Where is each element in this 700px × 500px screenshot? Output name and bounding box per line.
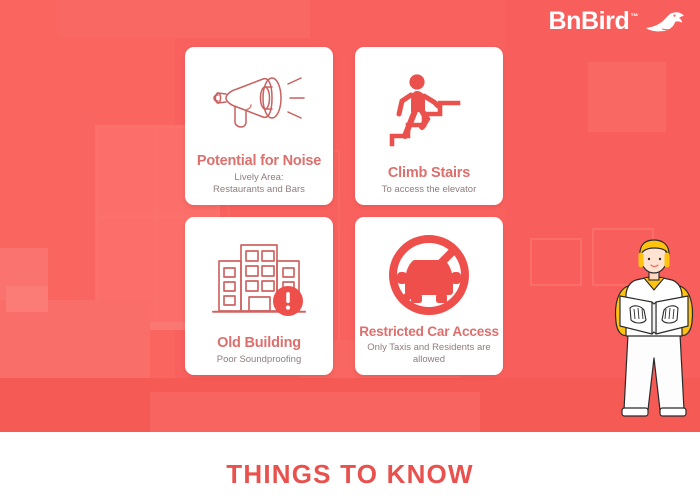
- card-title: Climb Stairs: [388, 166, 470, 182]
- hero-section: BnBird™: [0, 0, 700, 432]
- no-car-icon: [383, 230, 475, 320]
- card-title: Old Building: [217, 336, 301, 352]
- card-icon-wrapper: [192, 55, 326, 154]
- old-building-alert-icon: [207, 237, 311, 323]
- photo-window-mullion-vertical: [155, 125, 158, 325]
- card-subtitle: Lively Area: Restaurants and Bars: [213, 172, 305, 196]
- brand-name: BnBird™: [548, 9, 638, 34]
- megaphone-icon: [206, 67, 312, 141]
- card-climb-stairs[interactable]: Climb Stairs To access the elevator: [355, 47, 503, 205]
- card-title: Potential for Noise: [197, 154, 321, 170]
- photo-ceiling: [60, 0, 310, 38]
- footer-bar: THINGS TO KNOW: [0, 432, 700, 500]
- card-icon-wrapper: [192, 225, 326, 336]
- trademark-symbol: ™: [630, 12, 638, 21]
- card-subtitle: Only Taxis and Residents are allowed: [367, 342, 490, 366]
- poster-canvas: BnBird™: [0, 0, 700, 500]
- person-climbing-stairs-icon: [386, 70, 472, 150]
- card-subtitle-line-2: Restaurants and Bars: [213, 184, 305, 195]
- bird-icon: [644, 8, 686, 34]
- card-subtitle-line-1: Lively Area:: [234, 172, 283, 183]
- photo-rug: [150, 392, 480, 432]
- photo-picture-frame-a: [530, 238, 582, 286]
- reading-person-illustration: [608, 238, 700, 432]
- card-subtitle: Poor Soundproofing: [217, 354, 302, 366]
- card-subtitle-line-1: Only Taxis and Residents are: [367, 342, 490, 353]
- card-old-building[interactable]: Old Building Poor Soundproofing: [185, 217, 333, 375]
- card-subtitle: To access the elevator: [382, 184, 477, 196]
- photo-pillow: [6, 286, 48, 312]
- footer-title: THINGS TO KNOW: [226, 459, 473, 490]
- card-subtitle-line-2: allowed: [413, 354, 445, 365]
- photo-picture-frame-c: [588, 62, 666, 132]
- card-title: Restricted Car Access: [359, 325, 499, 340]
- card-potential-for-noise[interactable]: Potential for Noise Lively Area: Restaur…: [185, 47, 333, 205]
- brand-name-text: BnBird: [548, 7, 629, 35]
- brand-logo[interactable]: BnBird™: [548, 8, 686, 34]
- card-restricted-car-access[interactable]: Restricted Car Access Only Taxis and Res…: [355, 217, 503, 375]
- person-reading-book-illustration: [608, 238, 700, 432]
- card-icon-wrapper: [362, 55, 496, 166]
- info-cards-grid: Potential for Noise Lively Area: Restaur…: [185, 47, 515, 385]
- card-icon-wrapper: [362, 225, 496, 325]
